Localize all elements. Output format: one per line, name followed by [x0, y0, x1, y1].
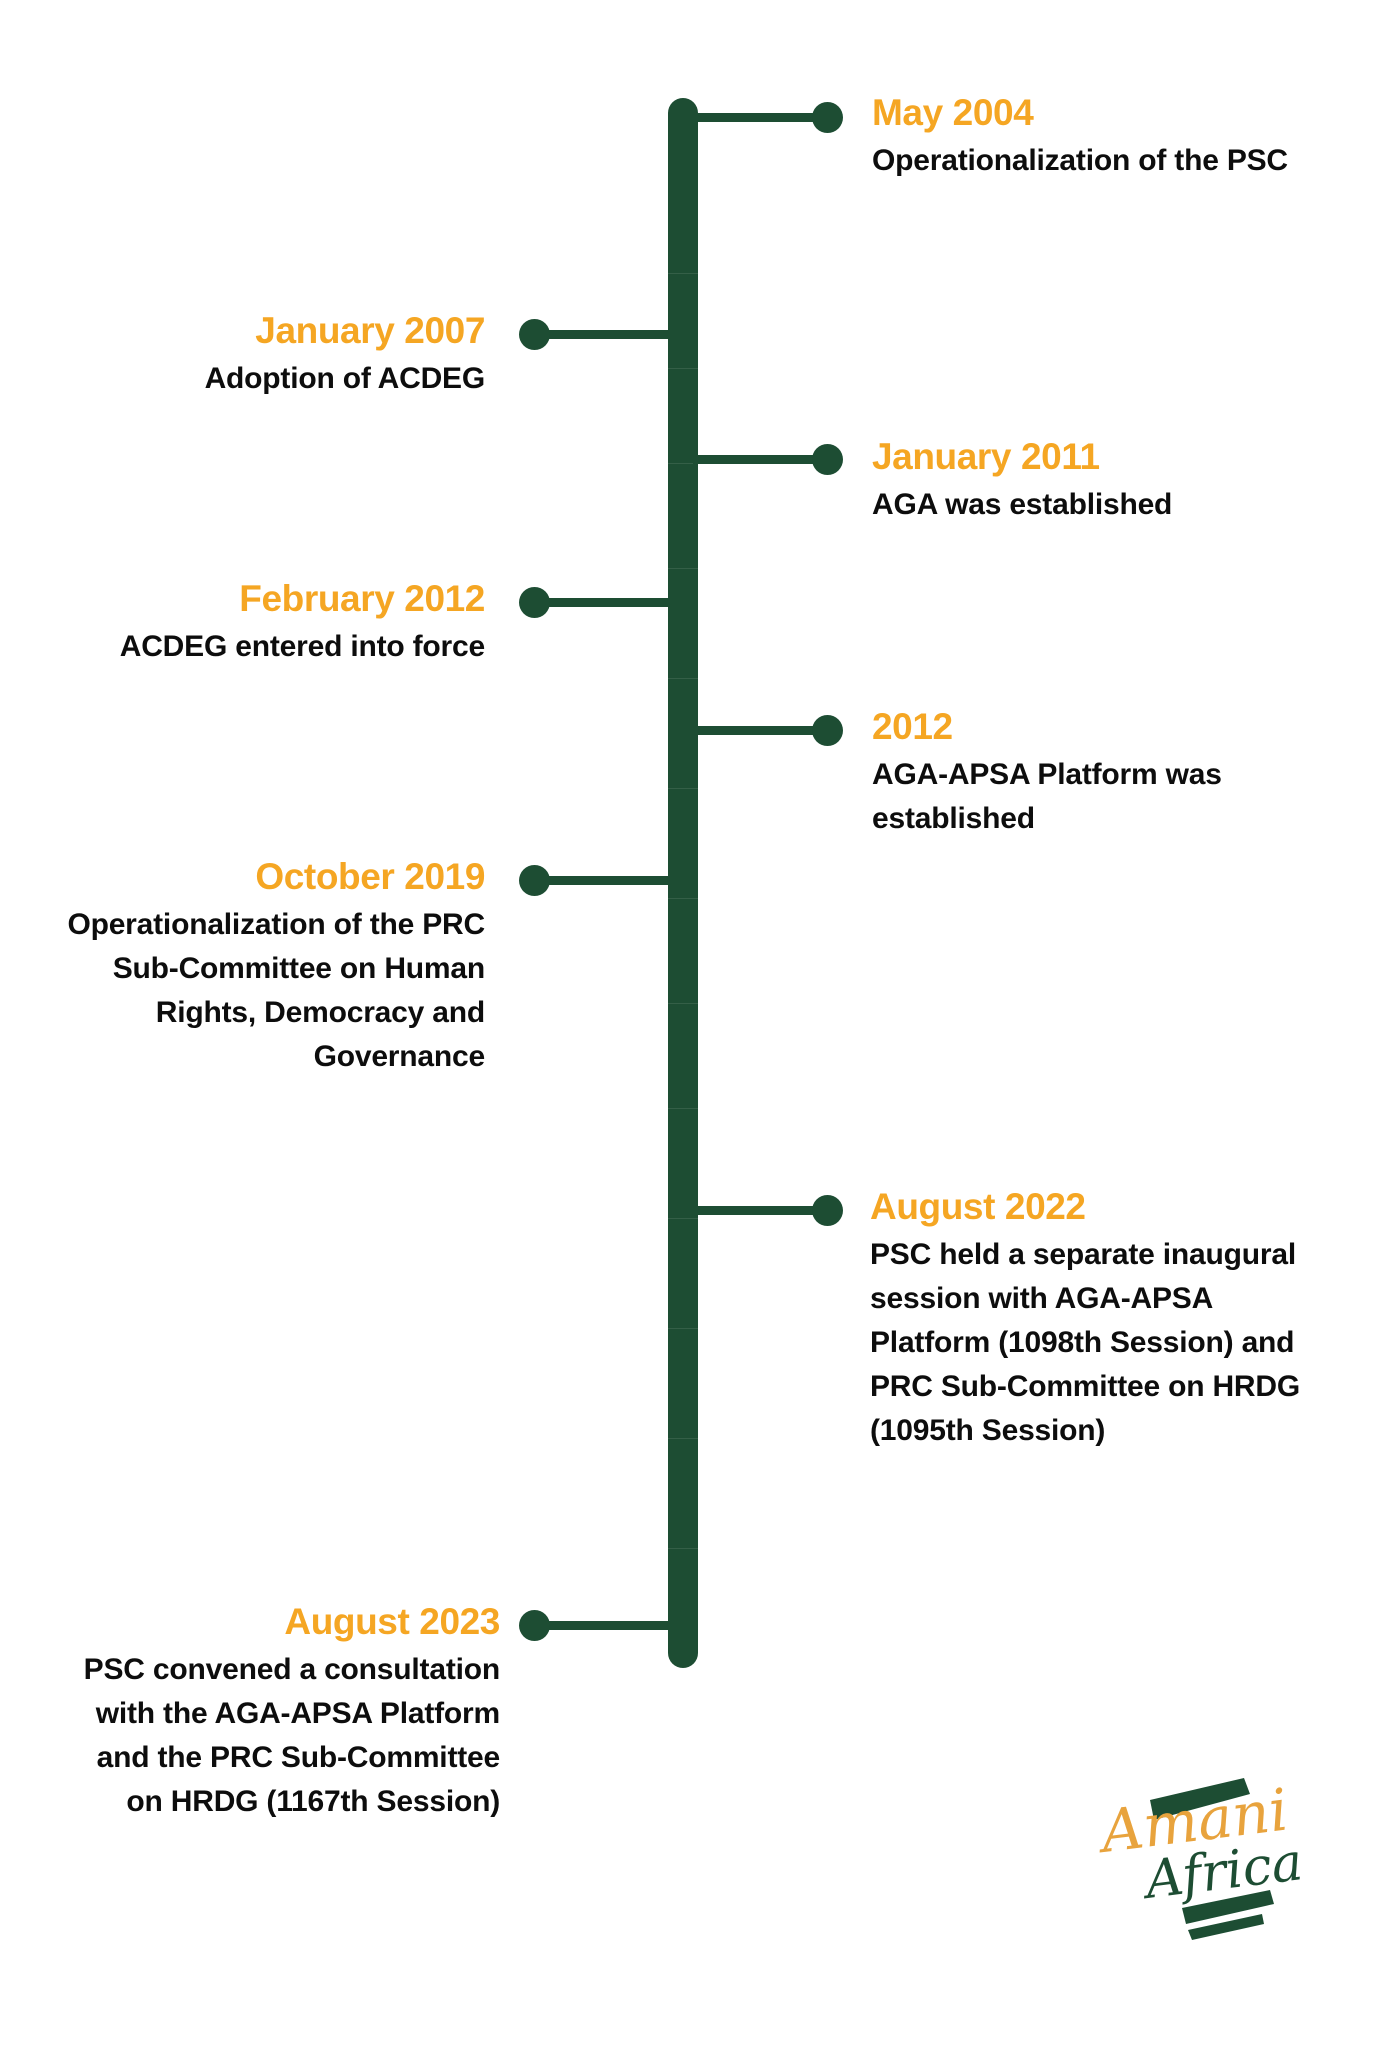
event-description: PSC convened a consultation with the AGA…	[60, 1648, 500, 1823]
event-date: 2012	[872, 706, 1342, 747]
timeline-event-january-2011: January 2011 AGA was established	[872, 436, 1342, 527]
connector-january-2011	[693, 455, 825, 464]
event-date: August 2022	[870, 1186, 1350, 1227]
timeline-event-august-2023: August 2023 PSC convened a consultation …	[30, 1601, 500, 1824]
event-date: February 2012	[40, 578, 485, 619]
connector-october-2019	[540, 876, 680, 885]
event-description: AGA-APSA Platform was established	[872, 753, 1272, 841]
node-dot-august-2022	[812, 1195, 843, 1226]
timeline-event-year-2012: 2012 AGA-APSA Platform was established	[872, 706, 1342, 841]
node-dot-year-2012	[812, 715, 843, 746]
timeline-infographic: May 2004 Operationalization of the PSC J…	[0, 0, 1374, 2048]
node-dot-january-2007	[519, 319, 550, 350]
event-description: Operationalization of the PRC Sub-Commit…	[45, 903, 485, 1078]
event-date: January 2007	[40, 310, 485, 351]
node-dot-february-2012	[519, 587, 550, 618]
event-date: October 2019	[30, 856, 485, 897]
connector-year-2012	[693, 726, 825, 735]
connector-february-2012	[540, 598, 680, 607]
node-dot-august-2023	[519, 1610, 550, 1641]
node-dot-october-2019	[519, 865, 550, 896]
connector-january-2007	[540, 330, 680, 339]
event-description: Adoption of ACDEG	[40, 357, 485, 401]
timeline-event-january-2007: January 2007 Adoption of ACDEG	[40, 310, 485, 401]
event-description: AGA was established	[872, 483, 1342, 527]
event-date: May 2004	[872, 92, 1342, 133]
connector-may-2004	[693, 113, 825, 122]
timeline-event-february-2012: February 2012 ACDEG entered into force	[40, 578, 485, 669]
event-date: August 2023	[30, 1601, 500, 1642]
event-description: PSC held a separate inaugural session wi…	[870, 1233, 1340, 1452]
event-date: January 2011	[872, 436, 1342, 477]
timeline-event-october-2019: October 2019 Operationalization of the P…	[30, 856, 485, 1079]
node-dot-may-2004	[812, 102, 843, 133]
event-description: Operationalization of the PSC	[872, 139, 1292, 183]
event-description: ACDEG entered into force	[115, 625, 485, 669]
connector-august-2022	[693, 1206, 825, 1215]
connector-august-2023	[540, 1621, 680, 1630]
timeline-event-august-2022: August 2022 PSC held a separate inaugura…	[870, 1186, 1350, 1452]
node-dot-january-2011	[812, 444, 843, 475]
amani-africa-logo: Amani Africa	[1092, 1748, 1302, 1946]
timeline-event-may-2004: May 2004 Operationalization of the PSC	[872, 92, 1342, 183]
